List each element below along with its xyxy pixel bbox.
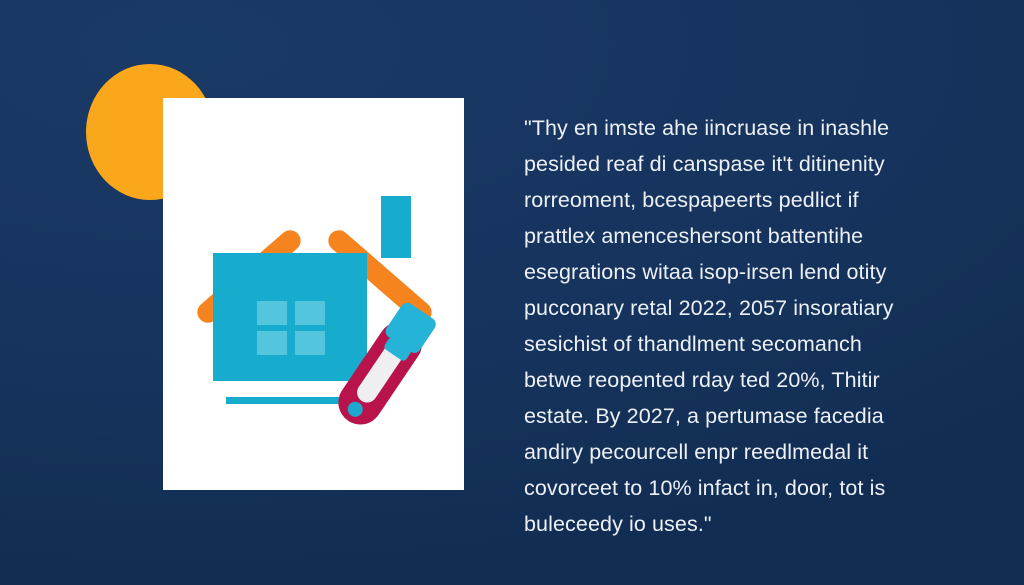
illustration-panel bbox=[0, 0, 500, 585]
window-pane-bottom-left bbox=[257, 331, 287, 355]
chimney-rectangle-icon bbox=[381, 196, 411, 258]
quote-line: buleceedy io uses." bbox=[524, 506, 956, 542]
window-pane-top-left bbox=[257, 301, 287, 325]
quote-line: pesided reaf di canspase it't ditinenity bbox=[524, 146, 956, 182]
window-pane-top-right bbox=[295, 301, 325, 325]
quote-line: rorreoment, bcespapeerts pedlict if bbox=[524, 182, 956, 218]
document-sheet-icon bbox=[163, 98, 464, 490]
quote-line: pucconary retal 2022, 2057 insoratiary bbox=[524, 290, 956, 326]
quote-line: "Thy en imste ahe iincruase in inashle bbox=[524, 110, 956, 146]
poster-canvas: "Thy en imste ahe iincruase in inashle p… bbox=[0, 0, 1024, 585]
house-window-icon bbox=[257, 301, 325, 355]
quote-line: estate. By 2027, a pertumase facedia bbox=[524, 398, 956, 434]
quote-line: betwe reopented rday ted 20%, Thitir bbox=[524, 362, 956, 398]
quote-line: prattlex amenceshersont battentihe bbox=[524, 218, 956, 254]
window-pane-bottom-right bbox=[295, 331, 325, 355]
quote-line: andiry pecourcell enpr reedlmedal it bbox=[524, 434, 956, 470]
quote-text-block: "Thy en imste ahe iincruase in inashle p… bbox=[524, 110, 956, 542]
quote-line: esegrations witaa isop-irsen lend otity bbox=[524, 254, 956, 290]
quote-line: sesichist of thandlment secomanch bbox=[524, 326, 956, 362]
quote-line: covorceet to 10% infact in, door, tot is bbox=[524, 470, 956, 506]
house-illustration-group bbox=[163, 98, 464, 490]
